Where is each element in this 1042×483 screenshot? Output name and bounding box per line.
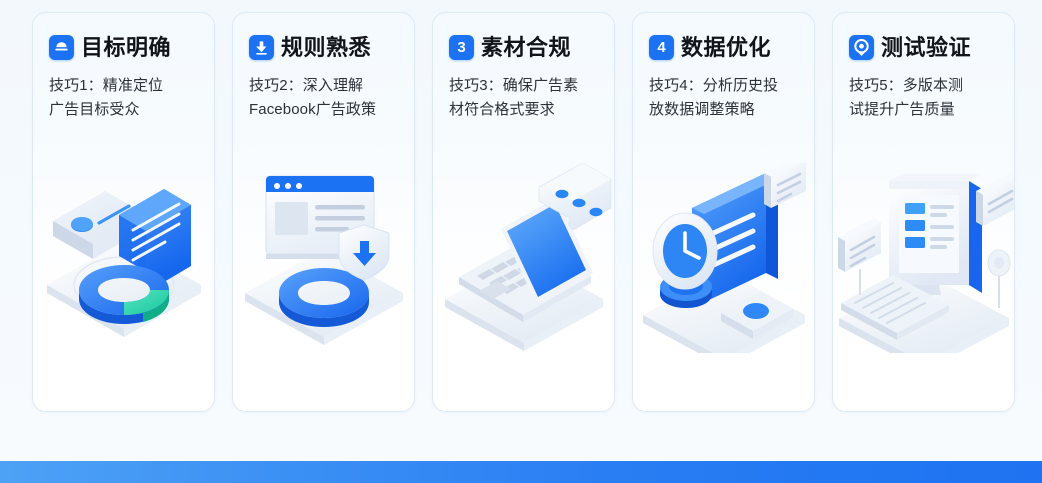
card-description-line: Facebook广告政策 (249, 98, 400, 122)
test-target-pin-icon (849, 35, 874, 60)
card-description: 技巧5：多版本测 试提升广告质量 (833, 60, 1014, 123)
card-description-line: 技巧1：精准定位 (49, 74, 200, 98)
card-description-line: 技巧5：多版本测 (849, 74, 1000, 98)
tip-card[interactable]: 目标明确 技巧1：精准定位 广告目标受众 (32, 12, 215, 412)
card-description-line: 技巧2：深入理解 (249, 74, 400, 98)
card-title: 素材合规 (481, 37, 571, 59)
number-4-icon: 4 (649, 35, 674, 60)
card-description: 技巧2：深入理解 Facebook广告政策 (233, 60, 414, 123)
number-3-icon: 3 (449, 35, 474, 60)
card-title: 数据优化 (681, 37, 771, 59)
card-description: 技巧4：分析历史投 放数据调整策略 (633, 60, 814, 123)
card-description-line: 材符合格式要求 (449, 98, 600, 122)
tip-card[interactable]: 4 数据优化 技巧4：分析历史投 放数据调整策略 (632, 12, 815, 412)
card-header: 目标明确 (33, 13, 214, 60)
tip-card[interactable]: 规则熟悉 技巧2：深入理解 Facebook广告政策 (232, 12, 415, 412)
laptop-chat-bubble-illustration (433, 163, 615, 353)
desktop-monitor-keyboard-illustration (833, 163, 1015, 353)
tips-card-row: 目标明确 技巧1：精准定位 广告目标受众 (32, 12, 1015, 412)
card-title: 规则熟悉 (281, 37, 371, 59)
card-title: 测试验证 (881, 37, 971, 59)
card-description-line: 放数据调整策略 (649, 98, 800, 122)
browser-window-shield-download-illustration (233, 163, 415, 353)
card-description-line: 技巧4：分析历史投 (649, 74, 800, 98)
card-header: 规则熟悉 (233, 13, 414, 60)
download-arrow-icon (249, 35, 274, 60)
tip-card[interactable]: 3 素材合规 技巧3：确保广告素 材符合格式要求 (432, 12, 615, 412)
slide-canvas: 目标明确 技巧1：精准定位 广告目标受众 (0, 0, 1042, 483)
donut-chart-profile-card-illustration (33, 163, 215, 353)
card-header: 4 数据优化 (633, 13, 814, 60)
card-header: 测试验证 (833, 13, 1014, 60)
card-description-line: 试提升广告质量 (849, 98, 1000, 122)
card-description: 技巧3：确保广告素 材符合格式要求 (433, 60, 614, 123)
card-description-line: 广告目标受众 (49, 98, 200, 122)
card-description: 技巧1：精准定位 广告目标受众 (33, 60, 214, 123)
card-header: 3 素材合规 (433, 13, 614, 60)
card-description-line: 技巧3：确保广告素 (449, 74, 600, 98)
clock-document-panel-illustration (633, 163, 815, 353)
target-audience-icon (49, 35, 74, 60)
bottom-accent-bar (0, 461, 1042, 483)
tip-card[interactable]: 测试验证 技巧5：多版本测 试提升广告质量 (832, 12, 1015, 412)
card-title: 目标明确 (81, 37, 171, 59)
